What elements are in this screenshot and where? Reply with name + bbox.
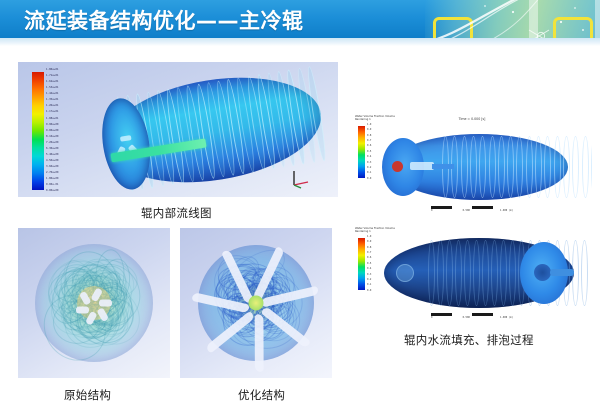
vof-colorbar-tick-label: 0.2 bbox=[367, 167, 371, 169]
vof-roll-rib bbox=[470, 136, 477, 198]
colorbar-tick-label: 9.00e-01 bbox=[46, 184, 59, 187]
colorbar-tick-label: 5.40e+00 bbox=[46, 154, 59, 157]
vof-colorbar bbox=[358, 238, 365, 290]
vof-colorbar-tick-label: 0.9 bbox=[367, 129, 371, 131]
scale-bar-ticks: 00.5001.000 (m) bbox=[431, 209, 513, 212]
vof-colorbar-labels: 1.00.90.80.70.60.50.40.30.20.10.0 bbox=[367, 124, 371, 180]
vof-roll-rib bbox=[572, 136, 579, 198]
scale-bar: 00.5001.000 (m) bbox=[431, 206, 513, 213]
scale-bar-ticks: 00.5001.000 (m) bbox=[431, 316, 513, 319]
colorbar-tick-label: 2.70e+00 bbox=[46, 172, 59, 175]
colorbar-tick-label: 6.30e+00 bbox=[46, 148, 59, 151]
colorbar-tick-label: 1.44e+01 bbox=[46, 93, 59, 96]
figure-streamlines: 1.80e+011.71e+011.62e+011.53e+011.44e+01… bbox=[18, 62, 338, 197]
vof-roll-rib bbox=[544, 136, 551, 198]
vof-colorbar-title: Water Volume Fraction Volume Rendering 1 bbox=[355, 115, 401, 121]
vof-roll-rib bbox=[491, 240, 498, 306]
colorbar-tick-label: 9.00e+00 bbox=[46, 130, 59, 133]
vof-hub bbox=[534, 264, 551, 281]
vof-inlet-marker bbox=[392, 161, 403, 172]
vof-colorbar-tick-label: 0.9 bbox=[367, 241, 371, 243]
vof-colorbar-title: Water Volume Fraction Volume Rendering 1 bbox=[355, 227, 401, 233]
colorbar-tick-label: 1.71e+01 bbox=[46, 75, 59, 78]
colorbar-tick-label: 9.90e+00 bbox=[46, 124, 59, 127]
vof-roll-rib bbox=[581, 240, 588, 306]
vof-roll-rib bbox=[428, 240, 435, 306]
vof-colorbar-tick-label: 0.3 bbox=[367, 162, 371, 164]
vof-roll-rib bbox=[591, 136, 592, 198]
header-decoration bbox=[425, 0, 600, 38]
caption-vof: 辊内水流填充、排泡过程 bbox=[404, 332, 534, 348]
vof-colorbar-tick-label: 0.4 bbox=[367, 156, 371, 158]
scale-tick-label: 0 bbox=[431, 316, 432, 319]
colorbar-tick-label: 8.10e+00 bbox=[46, 136, 59, 139]
vof-roll-rib bbox=[563, 136, 570, 198]
vof-roll-rib bbox=[535, 136, 542, 198]
vof-colorbar-tick-label: 1.0 bbox=[367, 236, 371, 238]
scale-bar: 00.5001.000 (m) bbox=[431, 313, 513, 320]
vof-roll-rib bbox=[507, 136, 514, 198]
colorbar-tick-label: 7.20e+00 bbox=[46, 142, 59, 145]
hub-vane bbox=[76, 307, 89, 314]
vof-shaft bbox=[432, 164, 454, 169]
colorbar-tick-label: 1.26e+01 bbox=[46, 105, 59, 108]
vof-colorbar-tick-label: 0.0 bbox=[367, 290, 371, 292]
vof-roll-rib bbox=[554, 136, 561, 198]
vof-colorbar-tick-label: 0.5 bbox=[367, 151, 371, 153]
vof-colorbar-tick-label: 0.4 bbox=[367, 268, 371, 270]
vof-roll-rib bbox=[582, 136, 589, 198]
vof-panel-title: Time = 0.000 [s] bbox=[459, 117, 486, 121]
page-header: 流延装备结构优化——主冷辊 bbox=[0, 0, 600, 38]
vof-colorbar-tick-label: 0.7 bbox=[367, 140, 371, 142]
vof-roll-rib bbox=[500, 240, 507, 306]
vof-roll-rib bbox=[516, 136, 523, 198]
vof-shaft bbox=[550, 269, 574, 276]
colorbar-streamlines bbox=[32, 72, 44, 190]
colorbar-tick-label: 1.80e+00 bbox=[46, 178, 59, 181]
page-title: 流延装备结构优化——主冷辊 bbox=[24, 5, 304, 35]
vof-roll-rib bbox=[482, 240, 489, 306]
vof-roll-rib bbox=[473, 240, 480, 306]
scale-tick-label: 0 bbox=[431, 209, 432, 212]
colorbar-tick-label: 1.62e+01 bbox=[46, 81, 59, 84]
vof-roll-rib bbox=[489, 136, 496, 198]
hub-vane bbox=[99, 300, 112, 307]
vof-far-hub bbox=[396, 264, 414, 282]
vof-roll-rib bbox=[498, 136, 505, 198]
vof-colorbar-labels: 1.00.90.80.70.60.50.40.30.20.10.0 bbox=[367, 236, 371, 292]
vof-roll-rib bbox=[526, 136, 533, 198]
vof-colorbar-tick-label: 0.1 bbox=[367, 284, 371, 286]
colorbar-tick-label: 1.08e+01 bbox=[46, 118, 59, 121]
scale-tick-label: 0.500 bbox=[463, 316, 470, 319]
vof-colorbar-tick-label: 0.1 bbox=[367, 172, 371, 174]
vof-colorbar-tick-label: 0.6 bbox=[367, 145, 371, 147]
vof-colorbar-tick-label: 0.2 bbox=[367, 279, 371, 281]
vof-roll-rib bbox=[479, 136, 486, 198]
figure-vof-fill-start: Water Volume Fraction Volume Rendering 1… bbox=[352, 112, 592, 217]
vof-colorbar-tick-label: 0.3 bbox=[367, 274, 371, 276]
figure-vof-fill-end: Water Volume Fraction Volume Rendering 1… bbox=[352, 224, 592, 324]
vof-roll-rib bbox=[446, 240, 453, 306]
vof-hub bbox=[410, 162, 434, 170]
colorbar-tick-label: 1.80e+01 bbox=[46, 69, 59, 72]
scale-tick-label: 1.000 (m) bbox=[500, 209, 513, 212]
vof-colorbar-tick-label: 1.0 bbox=[367, 124, 371, 126]
vof-colorbar-tick-label: 0.0 bbox=[367, 178, 371, 180]
scale-tick-label: 0.500 bbox=[463, 209, 470, 212]
colorbar-tick-label: 1.17e+01 bbox=[46, 111, 59, 114]
axis-triad-icon bbox=[290, 167, 312, 189]
colorbar-tick-label: 1.53e+01 bbox=[46, 87, 59, 90]
hub-center-optimized bbox=[249, 296, 264, 311]
header-underline bbox=[0, 38, 600, 46]
colorbar-tick-label: 4.50e+00 bbox=[46, 160, 59, 163]
colorbar-labels-streamlines: 1.80e+011.71e+011.62e+011.53e+011.44e+01… bbox=[46, 69, 59, 193]
vof-colorbar-tick-label: 0.8 bbox=[367, 135, 371, 137]
caption-streamlines: 辊内部流线图 bbox=[141, 205, 212, 221]
caption-optimized-structure: 优化结构 bbox=[238, 387, 285, 403]
caption-original-structure: 原始结构 bbox=[64, 387, 111, 403]
colorbar-tick-label: 0.00e+00 bbox=[46, 190, 59, 193]
hub-slot bbox=[120, 135, 132, 142]
vof-roll-rib bbox=[509, 240, 516, 306]
vof-roll-rib bbox=[455, 240, 462, 306]
vof-colorbar-tick-label: 0.8 bbox=[367, 247, 371, 249]
vof-roll-rib bbox=[437, 240, 444, 306]
vof-colorbar-tick-label: 0.5 bbox=[367, 263, 371, 265]
scale-tick-label: 1.000 (m) bbox=[500, 316, 513, 319]
colorbar-tick-label: 3.60e+00 bbox=[46, 166, 59, 169]
vof-colorbar-tick-label: 0.6 bbox=[367, 257, 371, 259]
colorbar-tick-label: 1.35e+01 bbox=[46, 99, 59, 102]
vof-colorbar-tick-label: 0.7 bbox=[367, 252, 371, 254]
spiral-vane bbox=[255, 313, 264, 372]
vof-roll-rib bbox=[464, 240, 471, 306]
deco-swoosh-icon bbox=[425, 0, 600, 38]
vof-roll-rib bbox=[461, 136, 468, 198]
vof-colorbar bbox=[358, 126, 365, 178]
figure-optimized-structure bbox=[180, 228, 332, 378]
figure-original-structure bbox=[18, 228, 170, 378]
